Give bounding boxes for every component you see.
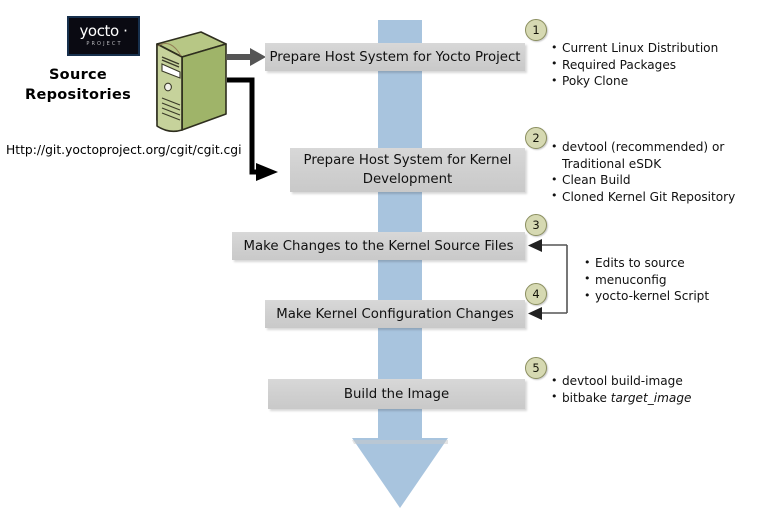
list-item-italic: bitbake target_image — [551, 390, 691, 407]
step-number-5: 5 — [525, 357, 547, 379]
box-2-line-1: Prepare Host System for Kernel — [304, 151, 512, 170]
logo-wordmark: yocto · — [79, 24, 127, 39]
server-tower-icon — [133, 30, 229, 140]
arrow-server-to-step1 — [227, 48, 266, 66]
box-2-line-2: Development — [304, 170, 512, 189]
logo-subtext: PROJECT — [84, 40, 122, 48]
bullet-list-step-2: devtool (recommended) or Traditional eSD… — [551, 139, 735, 205]
list-item: menuconfig — [584, 272, 709, 289]
list-item: devtool build-image — [551, 373, 691, 390]
flow-direction-arrow — [330, 20, 475, 510]
step-number-3: 3 — [525, 214, 547, 236]
list-item: Edits to source — [584, 255, 709, 272]
source-repositories-url: Http://git.yoctoproject.org/cgit/cgit.cg… — [6, 143, 242, 157]
step-number-2: 2 — [525, 127, 547, 149]
list-item: Required Packages — [551, 57, 718, 74]
workflow-diagram: yocto · PROJECT Source Repositories Http… — [0, 0, 769, 517]
list-item: Poky Clone — [551, 73, 718, 90]
bitbake-target-argument: target_image — [611, 391, 692, 405]
list-item: Cloned Kernel Git Repository — [551, 189, 735, 206]
process-box-step-2[interactable]: Prepare Host System for Kernel Developme… — [290, 148, 525, 192]
process-box-step-5[interactable]: Build the Image — [268, 379, 525, 409]
bullet-list-steps-3-4: Edits to source menuconfig yocto-kernel … — [584, 255, 709, 305]
source-label-line-1: Source — [18, 65, 138, 85]
list-item: Clean Build — [551, 172, 735, 189]
process-box-step-1[interactable]: Prepare Host System for Yocto Project — [265, 43, 525, 71]
process-box-step-4[interactable]: Make Kernel Configuration Changes — [265, 300, 525, 328]
source-repositories-label: Source Repositories — [18, 65, 138, 105]
list-item: yocto-kernel Script — [584, 288, 709, 305]
step-number-1: 1 — [525, 19, 547, 41]
yocto-project-logo: yocto · PROJECT — [67, 16, 140, 56]
list-item: Current Linux Distribution — [551, 40, 718, 57]
bitbake-command-prefix: bitbake — [562, 391, 611, 405]
bullet-list-step-1: Current Linux Distribution Required Pack… — [551, 40, 718, 90]
process-box-step-3[interactable]: Make Changes to the Kernel Source Files — [232, 232, 525, 260]
bracket-steps-3-4 — [528, 239, 567, 320]
source-label-line-2: Repositories — [18, 85, 138, 105]
step-number-4: 4 — [525, 283, 547, 305]
list-item-continuation: Traditional eSDK — [551, 156, 735, 173]
arrow-server-to-step2 — [227, 80, 278, 181]
list-item: devtool (recommended) or — [551, 139, 735, 156]
bullet-list-step-5: devtool build-image bitbake target_image — [551, 373, 691, 406]
